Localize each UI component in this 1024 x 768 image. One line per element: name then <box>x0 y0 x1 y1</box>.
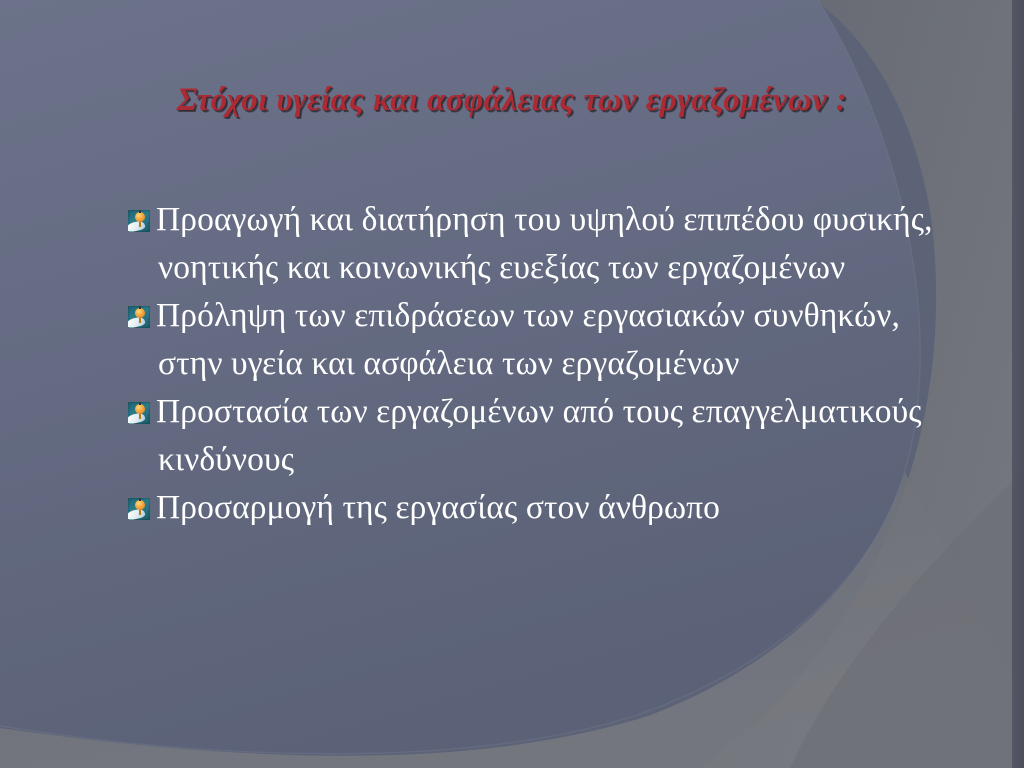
flower-picture-bullet-icon <box>128 210 150 232</box>
list-item-text: Προαγωγή και διατήρηση του υψηλού επιπέδ… <box>156 201 933 286</box>
slide-title: Στόχοι υγείας και ασφάλειας των εργαζομέ… <box>0 82 1024 119</box>
list-item-text: Προσαρμογή της εργασίας στον άνθρωπο <box>156 489 720 526</box>
list-item: Προσαρμογή της εργασίας στον άνθρωπο <box>128 484 958 532</box>
slide-body-content: Προαγωγή και διατήρηση του υψηλού επιπέδ… <box>128 196 958 532</box>
list-item-text: Προστασία των εργαζομένων από τους επαγγ… <box>156 393 922 478</box>
list-item: Προστασία των εργαζομένων από τους επαγγ… <box>128 388 958 484</box>
presentation-slide: Στόχοι υγείας και ασφάλειας των εργαζομέ… <box>0 0 1024 768</box>
list-item: Πρόληψη των επιδράσεων των εργασιακών συ… <box>128 292 958 388</box>
flower-picture-bullet-icon <box>128 498 150 520</box>
flower-picture-bullet-icon <box>128 402 150 424</box>
flower-picture-bullet-icon <box>128 306 150 328</box>
list-item-text: Πρόληψη των επιδράσεων των εργασιακών συ… <box>156 297 900 382</box>
list-item: Προαγωγή και διατήρηση του υψηλού επιπέδ… <box>128 196 958 292</box>
